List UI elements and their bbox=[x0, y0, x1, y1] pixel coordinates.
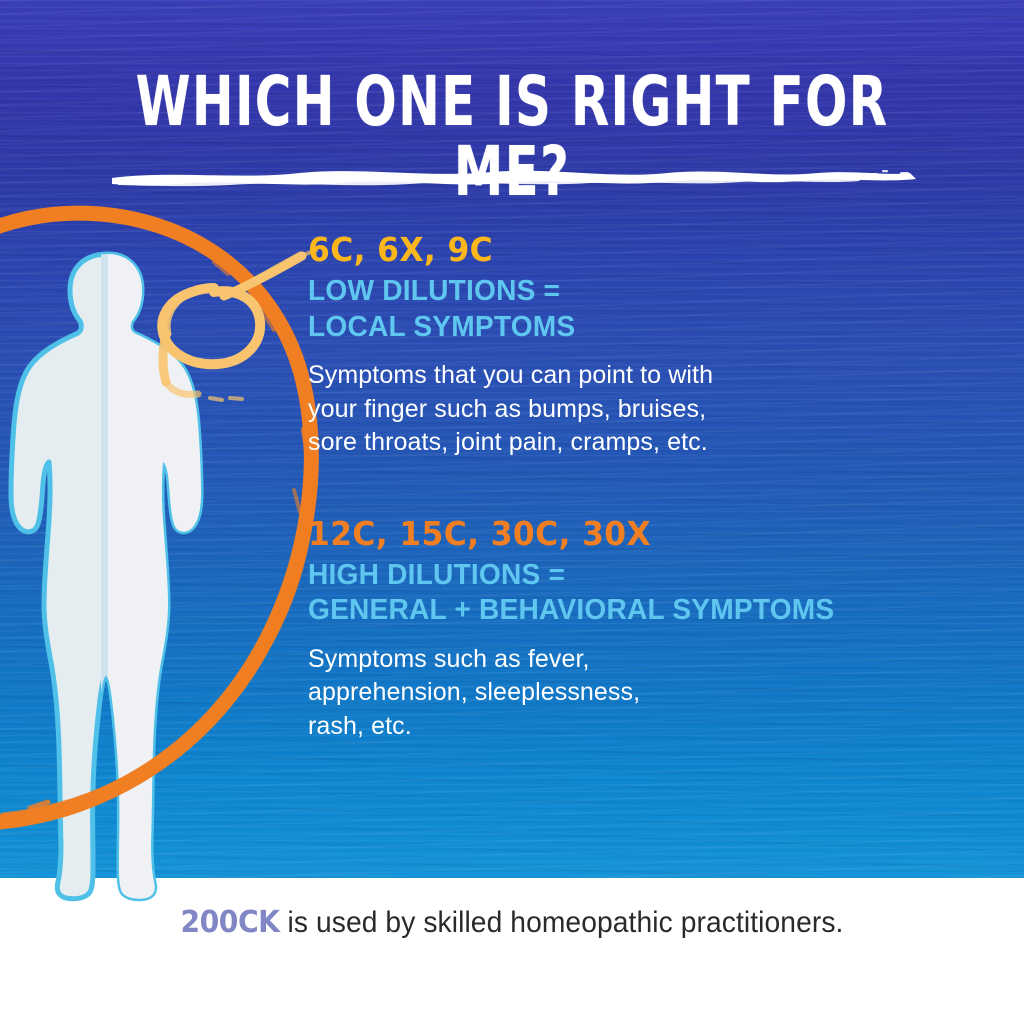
description-low: Symptoms that you can point to with your… bbox=[308, 359, 968, 460]
subhead-high-line-1: HIGH DILUTIONS = bbox=[308, 558, 948, 593]
footer-rest: is used by skilled homeopathic practitio… bbox=[280, 906, 844, 939]
section-high-dilutions: 12C, 15C, 30C, 30X HIGH DILUTIONS = GENE… bbox=[308, 516, 968, 744]
subhead-low: LOW DILUTIONS = LOCAL SYMPTOMS bbox=[308, 274, 948, 345]
description-high-line-1: Symptoms such as fever, bbox=[308, 643, 968, 677]
footer-note: 200CK is used by skilled homeopathic pra… bbox=[31, 905, 994, 941]
dose-label-low: 6C, 6X, 9C bbox=[308, 232, 935, 268]
description-high-line-3: rash, etc. bbox=[308, 710, 968, 744]
description-high-line-2: apprehension, sleeplessness, bbox=[308, 676, 968, 710]
subhead-low-line-2: LOCAL SYMPTOMS bbox=[308, 310, 948, 345]
description-high: Symptoms such as fever, apprehension, sl… bbox=[308, 643, 968, 744]
infographic-poster: WHICH ONE IS RIGHT FOR ME? bbox=[0, 0, 1024, 1024]
panel-bottom-brush-edge bbox=[0, 962, 1024, 1024]
description-low-line-1: Symptoms that you can point to with bbox=[308, 359, 968, 393]
description-low-line-2: your finger such as bumps, bruises, bbox=[308, 393, 968, 427]
section-low-dilutions: 6C, 6X, 9C LOW DILUTIONS = LOCAL SYMPTOM… bbox=[308, 232, 968, 460]
dose-label-high: 12C, 15C, 30C, 30X bbox=[308, 516, 935, 552]
subhead-low-line-1: LOW DILUTIONS = bbox=[308, 274, 948, 309]
human-body-silhouette bbox=[0, 248, 288, 908]
content-column: 6C, 6X, 9C LOW DILUTIONS = LOCAL SYMPTOM… bbox=[308, 232, 968, 743]
subhead-high: HIGH DILUTIONS = GENERAL + BEHAVIORAL SY… bbox=[308, 558, 948, 629]
footer: 200CK is used by skilled homeopathic pra… bbox=[0, 905, 1024, 941]
subhead-high-line-2: GENERAL + BEHAVIORAL SYMPTOMS bbox=[308, 593, 948, 628]
description-low-line-3: sore throats, joint pain, cramps, etc. bbox=[308, 426, 968, 460]
brush-underline-icon bbox=[0, 164, 1024, 190]
page-title-block: WHICH ONE IS RIGHT FOR ME? bbox=[0, 78, 1024, 196]
footer-highlight-200ck: 200CK bbox=[181, 905, 280, 940]
